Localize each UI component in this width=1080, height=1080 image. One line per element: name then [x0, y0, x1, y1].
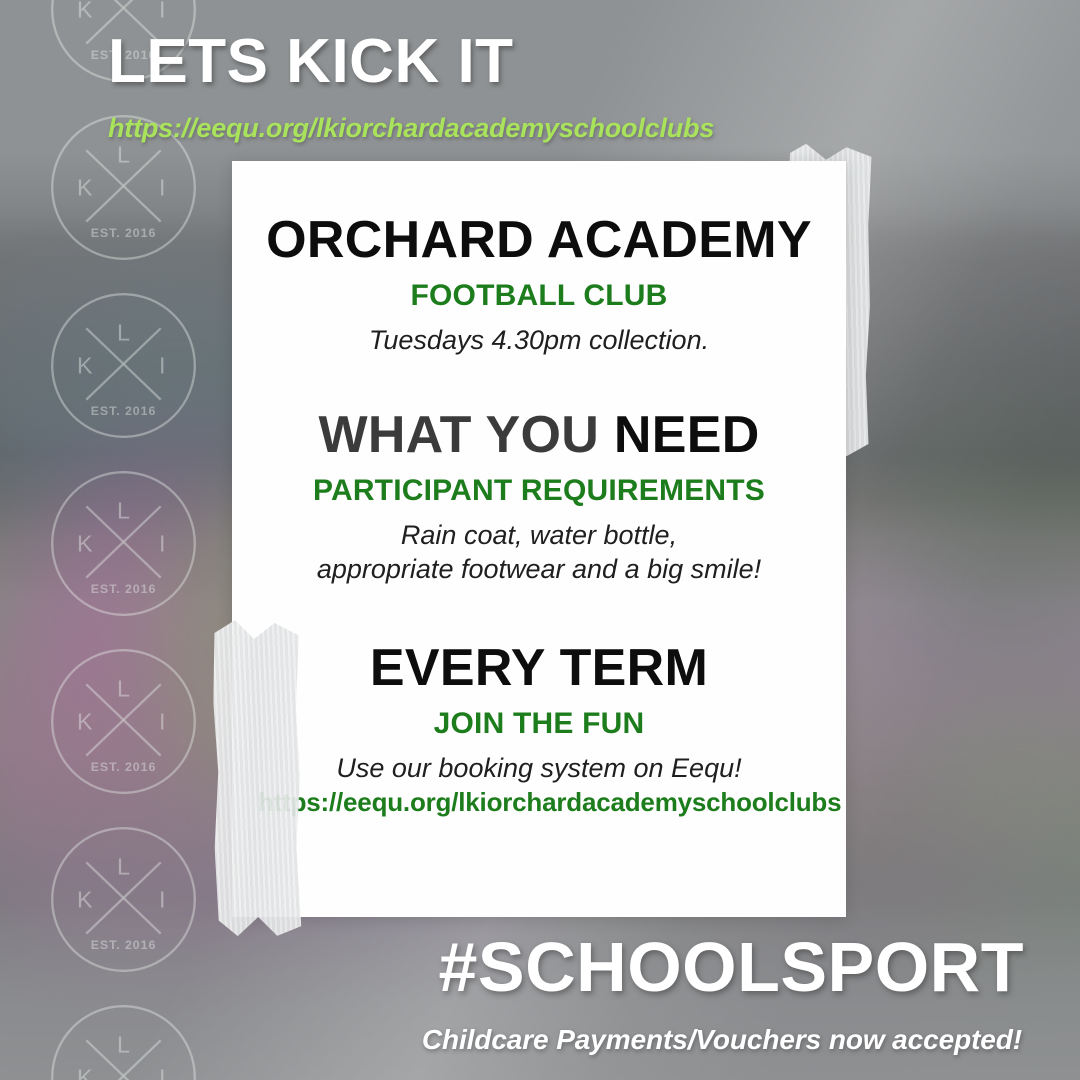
poster-canvas: LKIEST. 2016LKIEST. 2016LKIEST. 2016LKIE…: [0, 0, 1080, 1080]
svg-text:I: I: [159, 0, 165, 22]
watermark-logo: LKIEST. 2016: [46, 644, 201, 799]
section-requirements-title-lead: WHAT YOU: [318, 406, 613, 464]
header-booking-url[interactable]: https://eequ.org/lkiorchardacademyschool…: [108, 113, 714, 144]
section-requirements-body-line-1: Rain coat, water bottle,: [258, 518, 820, 553]
section-requirements-body-line-2: appropriate footwear and a big smile!: [258, 552, 820, 587]
svg-text:I: I: [159, 708, 165, 734]
section-join: EVERY TERM JOIN THE FUN Use our booking …: [258, 641, 820, 819]
payments-note: Childcare Payments/Vouchers now accepted…: [422, 1024, 1022, 1056]
watermark-logo: LKIEST. 2016: [46, 1000, 201, 1080]
svg-text:EST. 2016: EST. 2016: [91, 226, 157, 240]
watermark-logo: LKIEST. 2016: [46, 822, 201, 977]
watermark-logo: LKIEST. 2016: [46, 288, 201, 443]
section-club-body-line-1: Tuesdays 4.30pm collection.: [258, 323, 820, 358]
section-requirements-title-rest: NEED: [614, 406, 760, 464]
svg-text:K: K: [77, 886, 93, 912]
svg-text:I: I: [159, 174, 165, 200]
watermark-logo: LKIEST. 2016: [46, 466, 201, 621]
hashtag-label: #SCHOOLSPORT: [438, 927, 1024, 1007]
section-club: ORCHARD ACADEMY FOOTBALL CLUB Tuesdays 4…: [258, 213, 820, 358]
section-join-body-line-1: Use our booking system on Eequ!: [258, 751, 820, 786]
page-title: LETS KICK IT: [108, 26, 514, 97]
svg-text:EST. 2016: EST. 2016: [91, 404, 157, 418]
spacer-2: [258, 587, 820, 641]
svg-text:I: I: [159, 352, 165, 378]
svg-text:K: K: [77, 352, 93, 378]
svg-text:K: K: [77, 0, 93, 22]
svg-text:K: K: [77, 708, 93, 734]
spacer-1: [258, 358, 820, 408]
section-join-subtitle: JOIN THE FUN: [258, 707, 820, 741]
section-join-title: EVERY TERM: [258, 641, 820, 695]
svg-text:K: K: [77, 1064, 93, 1080]
section-club-subtitle: FOOTBALL CLUB: [258, 279, 820, 313]
section-club-title: ORCHARD ACADEMY: [258, 213, 820, 267]
section-join-booking-url[interactable]: https://eequ.org/lkiorchardacademyschool…: [258, 787, 820, 818]
svg-text:EST. 2016: EST. 2016: [91, 582, 157, 596]
svg-text:EST. 2016: EST. 2016: [91, 938, 157, 952]
svg-text:L: L: [117, 498, 130, 524]
flyer-card: ORCHARD ACADEMY FOOTBALL CLUB Tuesdays 4…: [232, 161, 846, 917]
svg-text:K: K: [77, 174, 93, 200]
svg-text:I: I: [159, 1064, 165, 1080]
svg-text:L: L: [117, 854, 130, 880]
svg-text:L: L: [117, 1032, 130, 1058]
section-requirements: WHAT YOU NEED PARTICIPANT REQUIREMENTS R…: [258, 408, 820, 587]
tape-strip-bottom-left: [213, 620, 302, 937]
section-requirements-title: WHAT YOU NEED: [258, 408, 820, 462]
svg-text:L: L: [117, 320, 130, 346]
flyer-card-content: ORCHARD ACADEMY FOOTBALL CLUB Tuesdays 4…: [232, 161, 846, 917]
svg-text:I: I: [159, 886, 165, 912]
svg-text:L: L: [117, 676, 130, 702]
section-requirements-subtitle: PARTICIPANT REQUIREMENTS: [258, 474, 820, 508]
svg-text:K: K: [77, 530, 93, 556]
svg-text:EST. 2016: EST. 2016: [91, 760, 157, 774]
svg-text:I: I: [159, 530, 165, 556]
svg-text:L: L: [117, 142, 130, 168]
